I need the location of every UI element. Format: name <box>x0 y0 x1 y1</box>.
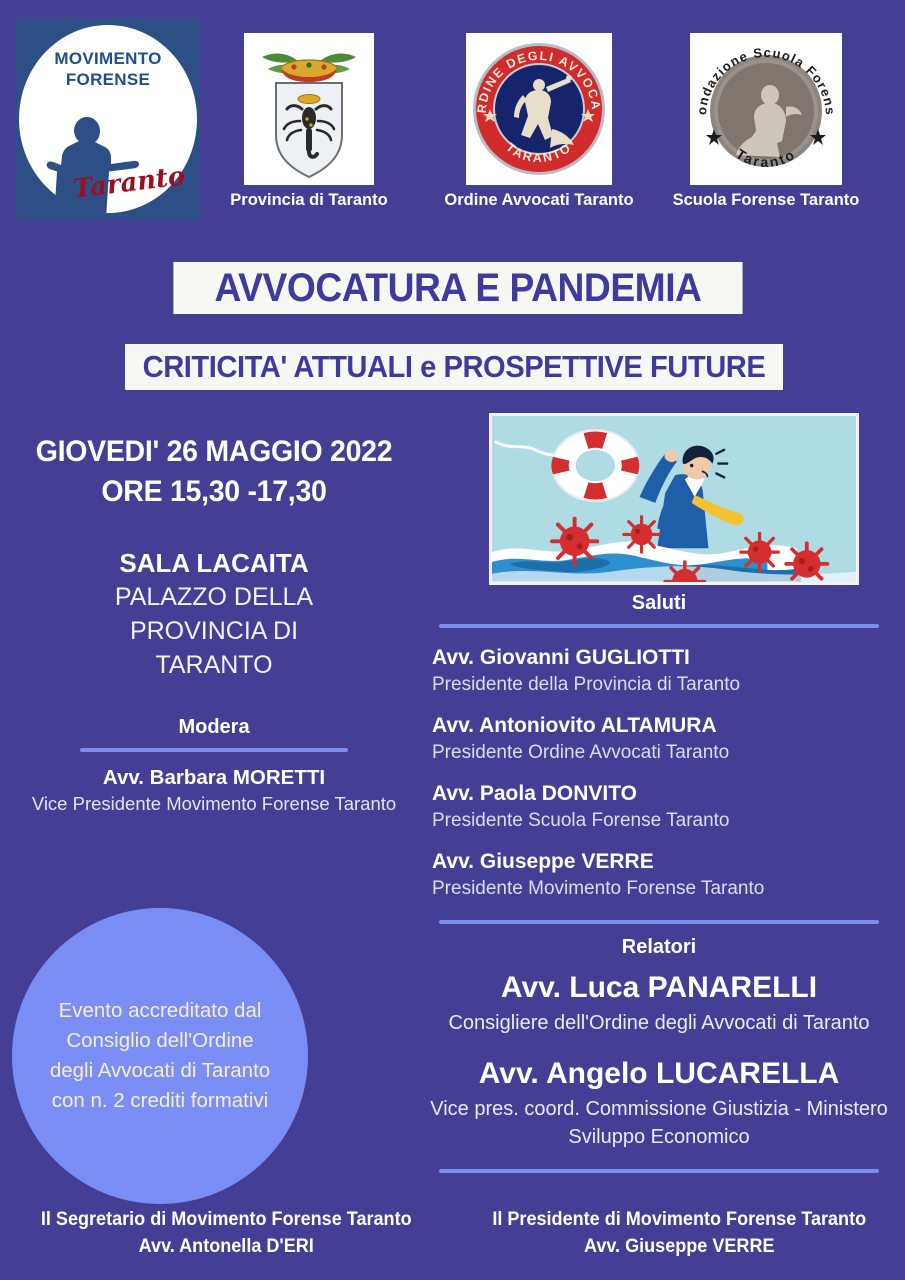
logo-strip: MOVIMENTO FORENSE Taranto <box>0 0 905 222</box>
logo-wordmark: MOVIMENTO FORENSE <box>16 48 200 90</box>
greeting-person-role: Presidente Scuola Forense Taranto <box>432 808 894 834</box>
moderator-role: Vice Presidente Movimento Forense Tarant… <box>8 791 420 816</box>
list-item: Avv. Angelo LUCARELLA Vice pres. coord. … <box>424 1053 894 1151</box>
list-item: Avv. Giovanni GUGLIOTTI Presidente della… <box>432 644 894 698</box>
list-item: Avv. Luca PANARELLI Consigliere dell'Ord… <box>424 967 894 1037</box>
logo-wordmark-line1: MOVIMENTO <box>16 48 200 69</box>
footer-president-name: Avv. Giuseppe VERRE <box>464 1233 894 1260</box>
moderator-divider <box>80 748 348 752</box>
moderator-name: Avv. Barbara MORETTI <box>8 765 420 791</box>
organization-provincia-taranto: Provincia di Taranto <box>244 33 374 185</box>
organization-caption: Scuola Forense Taranto <box>668 191 864 210</box>
movimento-forense-logo: MOVIMENTO FORENSE Taranto <box>16 18 200 220</box>
greeting-person-role: Presidente Movimento Forense Taranto <box>432 876 894 902</box>
poster-subtitle: CRITICITA' ATTUALI e PROSPETTIVE FUTURE <box>125 344 783 390</box>
speakers-list: Avv. Luca PANARELLI Consigliere dell'Ord… <box>424 967 894 1151</box>
speaker-name: Avv. Angelo LUCARELLA <box>424 1053 894 1095</box>
footer-secretary-title: Il Segretario di Movimento Forense Taran… <box>11 1206 441 1233</box>
venue-hall: SALA LACAITA <box>8 546 420 580</box>
greeting-person-role: Presidente Ordine Avvocati Taranto <box>432 740 894 766</box>
speaker-role: Consigliere dell'Ordine degli Avvocati d… <box>424 1009 894 1037</box>
organization-scuola-forense-taranto: Fondazione Scuola Forense Taranto Scuola… <box>690 33 842 185</box>
drowning-businessman-covid-lifebuoy-illustration <box>489 413 859 585</box>
greetings-list: Avv. Giovanni GUGLIOTTI Presidente della… <box>424 644 894 902</box>
poster-footer: Il Segretario di Movimento Forense Taran… <box>0 1206 905 1260</box>
event-date: GIOVEDI' 26 MAGGIO 2022 <box>18 432 409 472</box>
footer-secretary-name: Avv. Antonella D'ERI <box>11 1233 441 1260</box>
speaker-name: Avv. Luca PANARELLI <box>424 967 894 1009</box>
provincia-taranto-coat-of-arms-icon <box>244 33 374 185</box>
accreditation-text: Evento accreditato dal Consiglio dell'Or… <box>42 996 278 1116</box>
organization-ordine-avvocati-taranto: ORDINE DEGLI AVVOCATI TARANTO <box>466 33 612 185</box>
moderator-heading: Modera <box>8 716 420 739</box>
ordine-avvocati-taranto-seal-icon: ORDINE DEGLI AVVOCATI TARANTO <box>466 33 612 185</box>
venue-address-line-1: PALAZZO DELLA <box>8 580 420 614</box>
list-item: Avv. Giuseppe VERRE Presidente Movimento… <box>432 848 894 902</box>
greeting-person-name: Avv. Giovanni GUGLIOTTI <box>432 644 894 672</box>
moderator-entry: Avv. Barbara MORETTI Vice Presidente Mov… <box>8 765 420 816</box>
speakers-top-divider <box>439 920 879 924</box>
organization-caption: Provincia di Taranto <box>222 191 396 210</box>
greeting-person-name: Avv. Paola DONVITO <box>432 780 894 808</box>
greeting-person-name: Avv. Antoniovito ALTAMURA <box>432 712 894 740</box>
organization-caption: Ordine Avvocati Taranto <box>444 191 634 210</box>
right-column: Saluti Avv. Giovanni GUGLIOTTI President… <box>424 592 894 1173</box>
list-item: Avv. Antoniovito ALTAMURA Presidente Ord… <box>432 712 894 766</box>
footer-president: Il Presidente di Movimento Forense Taran… <box>453 1206 905 1260</box>
accreditation-badge: Evento accreditato dal Consiglio dell'Or… <box>12 908 308 1204</box>
venue-address-line-2: PROVINCIA DI <box>8 614 420 648</box>
poster-main-title: AVVOCATURA E PANDEMIA <box>173 262 742 314</box>
greetings-heading: Saluti <box>424 592 894 615</box>
speaker-role: Vice pres. coord. Commissione Giustizia … <box>424 1095 894 1151</box>
speakers-bottom-divider <box>439 1169 879 1173</box>
speakers-heading: Relatori <box>424 936 894 959</box>
left-column: GIOVEDI' 26 MAGGIO 2022 ORE 15,30 -17,30… <box>8 432 420 816</box>
greeting-person-role: Presidente della Provincia di Taranto <box>432 672 894 698</box>
footer-president-title: Il Presidente di Movimento Forense Taran… <box>464 1206 894 1233</box>
greeting-person-name: Avv. Giuseppe VERRE <box>432 848 894 876</box>
scuola-forense-taranto-seal-icon: Fondazione Scuola Forense Taranto <box>690 33 842 185</box>
logo-wordmark-line2: FORENSE <box>16 69 200 90</box>
list-item: Avv. Paola DONVITO Presidente Scuola For… <box>432 780 894 834</box>
venue-address-line-3: TARANTO <box>8 648 420 682</box>
event-poster: MOVIMENTO FORENSE Taranto <box>0 0 905 1280</box>
event-venue: SALA LACAITA PALAZZO DELLA PROVINCIA DI … <box>8 546 420 682</box>
event-time: ORE 15,30 -17,30 <box>18 472 409 512</box>
greetings-divider <box>439 624 879 628</box>
footer-secretary: Il Segretario di Movimento Forense Taran… <box>0 1206 453 1260</box>
